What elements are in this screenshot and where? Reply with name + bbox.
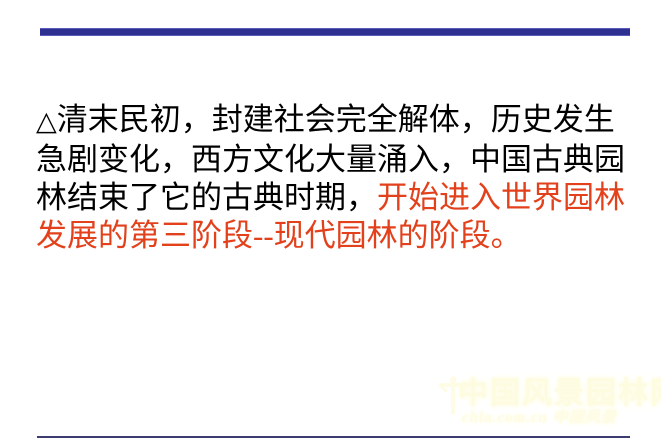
watermark-sub-text: chla.com.cn 中国风景 [462,410,617,426]
slide-body-text: △清末民初，封建社会完全解体，历史发生急剧变化，西方文化大量涌入，中国古典园林结… [36,101,636,255]
watermark: 中国风景园林网 chla.com.cn 中国风景 [436,372,651,434]
watermark-main-text: 中国风景园林网 [458,378,661,410]
bottom-divider-rule [37,436,630,438]
top-divider-rule [40,28,630,36]
chla-logo-icon [438,374,472,414]
triangle-bullet-icon: △ [36,106,57,137]
slide-canvas: △清末民初，封建社会完全解体，历史发生急剧变化，西方文化大量涌入，中国古典园林结… [0,0,661,446]
